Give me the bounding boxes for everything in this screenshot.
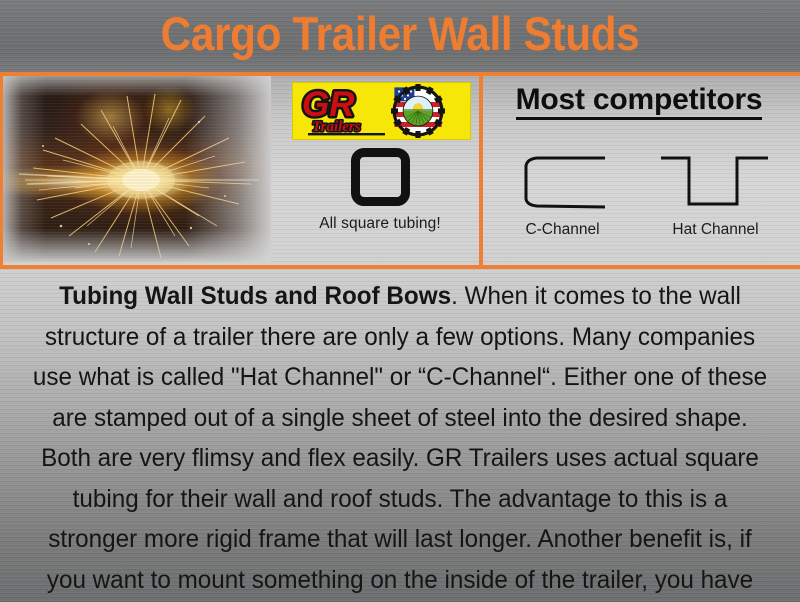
gr-trailers-logo: GR GR Trailers Trailers (292, 82, 471, 140)
brand-column: GR GR Trailers Trailers (282, 76, 478, 265)
competitor-shapes-row: C-Channel Hat Channel (486, 154, 792, 239)
c-channel-icon (513, 154, 613, 210)
hat-channel-icon (658, 154, 773, 210)
square-tubing-block: All square tubing! (282, 144, 478, 233)
c-channel-block: C-Channel (486, 154, 639, 239)
comparison-band: GR GR Trailers Trailers (0, 76, 800, 265)
body-lead: Tubing Wall Studs and Roof Bows (59, 282, 451, 310)
gr-trailers-logo-icon: GR GR Trailers Trailers (293, 83, 470, 139)
competitors-column: Most competitors C-Channel Hat Channel (486, 76, 800, 265)
page-title: Cargo Trailer Wall Studs (40, 2, 760, 66)
square-tubing-icon (351, 148, 410, 206)
c-channel-label: C-Channel (486, 221, 639, 239)
slide-canvas: Cargo Trailer Wall Studs (0, 0, 800, 602)
body-rest: . When it comes to the wall structure of… (33, 282, 767, 602)
hat-channel-block: Hat Channel (639, 154, 792, 239)
competitors-heading: Most competitors (486, 83, 792, 117)
photo-edge-fade (3, 76, 271, 262)
hat-channel-label: Hat Channel (639, 221, 792, 239)
body-paragraph: Tubing Wall Studs and Roof Bows. When it… (29, 276, 770, 602)
svg-text:Trailers: Trailers (312, 119, 361, 135)
square-tubing-caption: All square tubing! (282, 215, 478, 233)
welding-photo (3, 76, 271, 262)
header-band: Cargo Trailer Wall Studs (0, 0, 800, 73)
divider-bottom (0, 265, 800, 269)
competitors-heading-text: Most competitors (516, 83, 763, 120)
